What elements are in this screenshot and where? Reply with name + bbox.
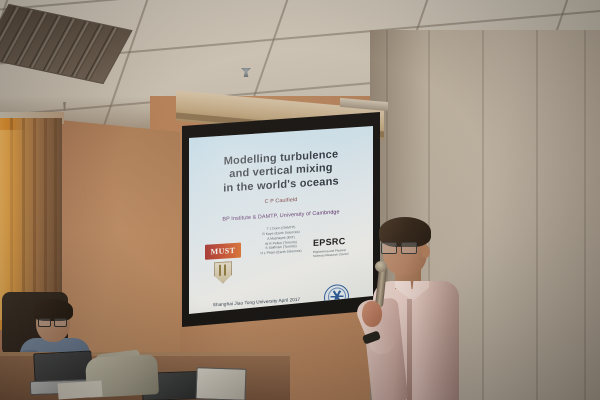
- laptop-right-base[interactable]: [195, 367, 246, 400]
- epsrc-logo: EPSRC: [313, 235, 357, 248]
- must-logo-group: MUST: [205, 243, 241, 285]
- eyeglasses-icon: [381, 242, 415, 252]
- papers-on-table: [57, 380, 102, 399]
- eyeglasses-icon: [38, 318, 65, 325]
- conference-room-scene: Modelling turbulence and vertical mixing…: [0, 0, 600, 400]
- projection-screen[interactable]: Modelling turbulence and vertical mixing…: [189, 124, 373, 314]
- title-slide: Modelling turbulence and vertical mixing…: [189, 124, 373, 314]
- cambridge-crest-icon: [214, 261, 232, 284]
- presenter: [355, 215, 475, 400]
- presenter-shirt-placket: [407, 299, 412, 400]
- must-logo: MUST: [205, 243, 241, 260]
- presenter-hand: [362, 301, 382, 327]
- epsrc-subtitle: Engineering and Physical Sciences Resear…: [313, 247, 357, 258]
- epsrc-logo-group: EPSRC Engineering and Physical Sciences …: [313, 235, 357, 258]
- microphone-head-icon: [375, 261, 387, 272]
- presenter-ear: [421, 245, 430, 258]
